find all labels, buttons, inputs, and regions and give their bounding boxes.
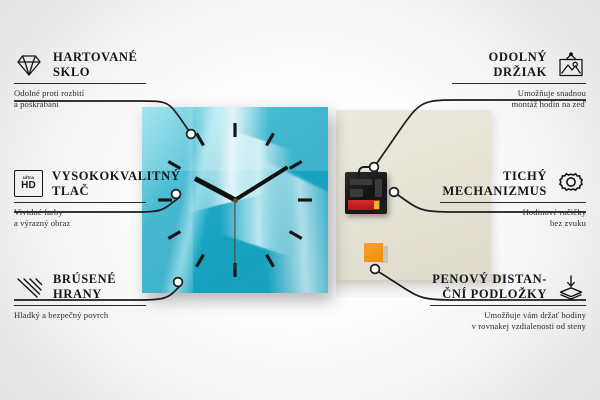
ultra-hd-badge-icon: ultra HD [14, 170, 43, 197]
feature-divider [14, 202, 146, 203]
feature-title: BRÚSENÉ HRANY [53, 272, 116, 301]
glass-wall-clock [142, 107, 328, 293]
feature-description: Umožňuje snadnou montáž hodin na zeď [452, 88, 586, 110]
mechanism-slot-2 [350, 189, 363, 197]
mechanism-slot-3 [375, 179, 382, 197]
feature-header: BRÚSENÉ HRANY [14, 272, 146, 301]
foam-spacer-pad [364, 243, 383, 262]
battery-terminal [374, 201, 379, 209]
feature-title: PENOVÝ DISTAN- ČNÍ PODLOŽKY [430, 272, 547, 301]
feature-divider [452, 83, 586, 84]
feature-header: TICHÝ MECHANIZMUS [440, 169, 586, 198]
clock-center-pin [233, 198, 238, 203]
ground-edges-icon [14, 273, 44, 301]
mechanism-hanger-loop [358, 166, 378, 177]
wall-mount-frame-icon [556, 51, 586, 79]
feature-description: Hodinové ručičky bez zvuku [440, 207, 586, 229]
press-pad-icon [556, 273, 586, 301]
feature-title: HARTOVANÉ SKLO [53, 50, 137, 79]
feature-divider [14, 305, 146, 306]
badge-bottom-label: HD [21, 181, 36, 191]
feature-silent-mechanism: TICHÝ MECHANIZMUS Hodinové ručičky bez z… [440, 169, 586, 229]
feature-divider [430, 305, 586, 306]
clock-mechanism [345, 172, 387, 214]
feature-high-quality-print: ultra HD VYSOKOKVALITNÝ TLAČ Vividné far… [14, 169, 146, 229]
diamond-icon [14, 51, 44, 79]
feature-title: TICHÝ MECHANIZMUS [440, 169, 547, 198]
feature-header: ODOLNÝ DRŽIAK [452, 50, 586, 79]
feature-header: HARTOVANÉ SKLO [14, 50, 146, 79]
feature-ground-edges: BRÚSENÉ HRANY Hladký a bezpečný povrch [14, 272, 146, 321]
feature-description: Odolné proti rozbití a poškrábání [14, 88, 146, 110]
feature-title: VYSOKOKVALITNÝ TLAČ [52, 169, 180, 198]
feature-header: ultra HD VYSOKOKVALITNÝ TLAČ [14, 169, 146, 198]
feature-tempered-glass: HARTOVANÉ SKLO Odolné proti rozbití a po… [14, 50, 146, 110]
feature-divider [440, 202, 586, 203]
feature-foam-spacers: PENOVÝ DISTAN- ČNÍ PODLOŽKY Umožňuje vám… [430, 272, 586, 332]
feature-title: ODOLNÝ DRŽIAK [452, 50, 547, 79]
feature-divider [14, 83, 146, 84]
feature-description: Hladký a bezpečný povrch [14, 310, 146, 321]
feature-description: Umožňuje vám držať hodiny v rovnakej vzd… [430, 310, 586, 332]
feature-header: PENOVÝ DISTAN- ČNÍ PODLOŽKY [430, 272, 586, 301]
feature-durable-hanger: ODOLNÝ DRŽIAK Umožňuje snadnou montáž ho… [452, 50, 586, 110]
mechanism-slot-1 [350, 179, 372, 185]
mechanism-battery [348, 200, 380, 210]
feature-description: Vividné farby a výrazný obraz [14, 207, 146, 229]
gear-icon [556, 170, 586, 198]
infographic-canvas: HARTOVANÉ SKLO Odolné proti rozbití a po… [0, 0, 600, 400]
